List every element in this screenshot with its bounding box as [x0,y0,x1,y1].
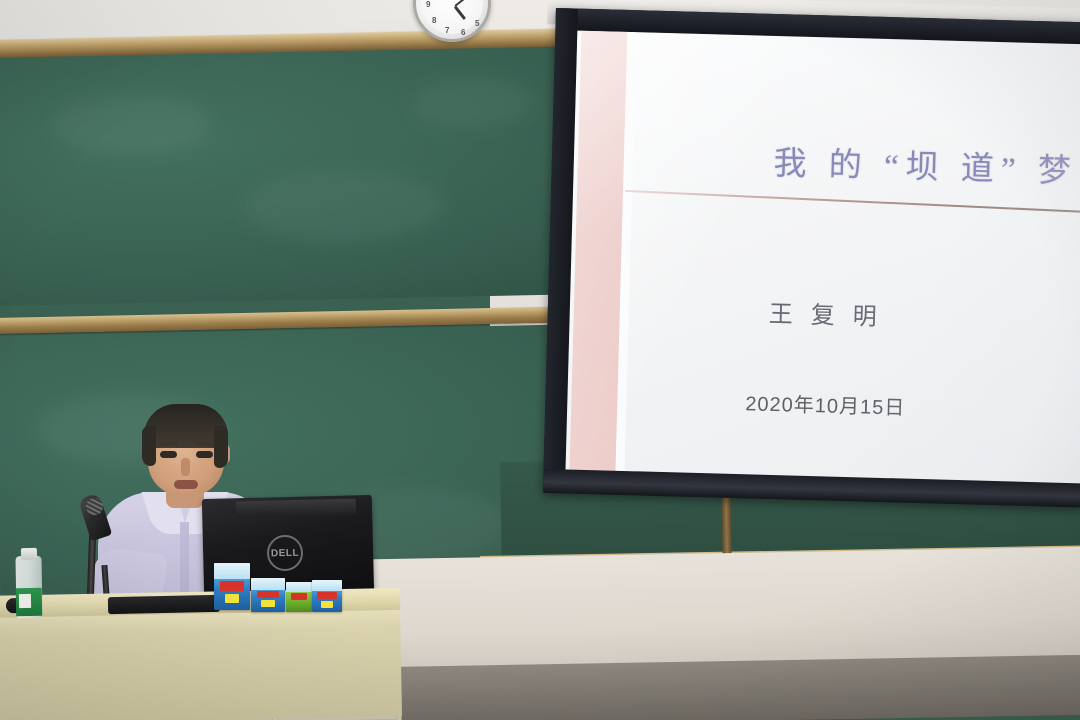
speaker-hair-side-left [142,426,156,466]
speaker-nose [181,458,190,476]
slide-title: 我 的 “坝 道” 梦 [633,132,1080,192]
chalkboard-upper-panel [0,46,576,306]
product-box[interactable] [312,580,342,612]
presentation-slide: 我 的 “坝 道” 梦 王 复 明 2020年10月15日 [565,31,1080,486]
water-bottle-cap [21,548,37,560]
speaker-eye-right [196,451,213,458]
clock-face: 9 8 7 6 5 [421,0,483,34]
clock-minute-hand [454,0,474,7]
product-box[interactable] [214,563,250,610]
slide-date: 2020年10月15日 [627,384,1080,425]
clock-numeral-6: 6 [461,28,465,37]
water-bottle-label-highlight [19,594,31,608]
product-box[interactable] [286,582,312,612]
speaker-mouth [174,480,198,489]
clock-numeral-8: 8 [432,16,436,25]
lecture-hall-scene: 我 的 “坝 道” 梦 王 复 明 2020年10月15日 9 8 7 6 5 [0,0,1080,720]
clock-hour-hand [454,6,466,20]
product-box[interactable] [251,578,285,612]
projection-screen[interactable]: 我 的 “坝 道” 梦 王 复 明 2020年10月15日 [543,8,1080,507]
speaker-hair-side-right [214,426,228,468]
slide-title-rule [625,190,1080,213]
podium-front-panel [0,606,402,720]
slide-author: 王 复 明 [629,290,1080,337]
speaker-eye-left [160,451,177,458]
clock-numeral-9: 9 [426,0,430,9]
monitor-top-bezel [236,499,356,518]
clock-numeral-5: 5 [475,19,479,28]
keyboard[interactable] [108,595,220,614]
clock-numeral-7: 7 [445,26,449,35]
